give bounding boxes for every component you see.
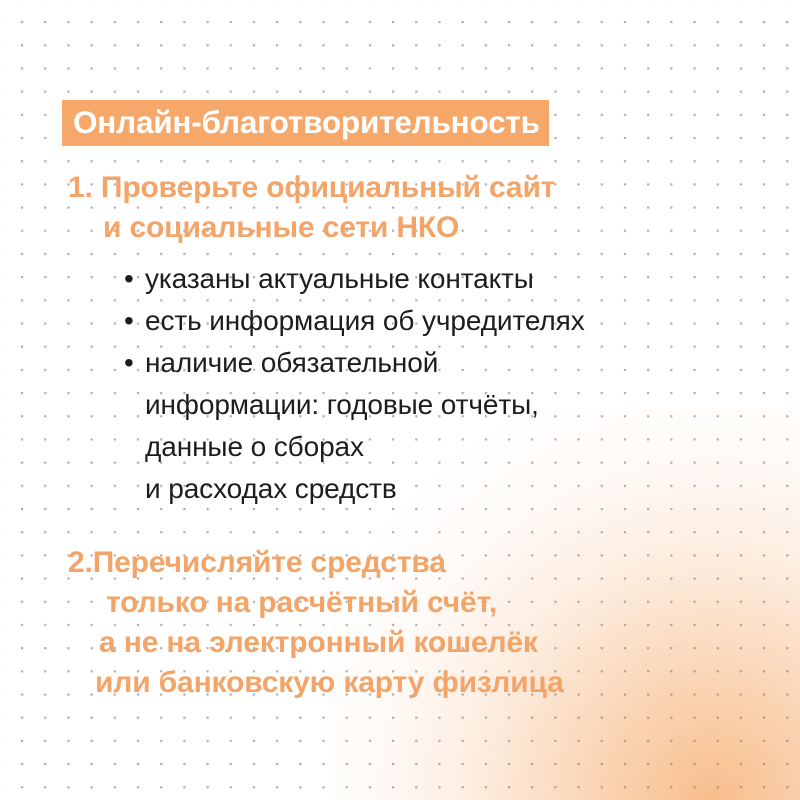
step-2-line-3: а не на электронный кошелёк bbox=[68, 623, 564, 663]
bullet-dot-icon: • bbox=[124, 258, 134, 300]
bullet-3-line-2: информации: годовые отчёты, bbox=[145, 384, 585, 426]
page-title-text: Онлайн-благотворительность bbox=[73, 107, 540, 139]
bullet-3-line-3: данные о сборах bbox=[145, 426, 585, 468]
list-item: • наличие обязательной информации: годов… bbox=[124, 342, 585, 510]
step-1-line-1: 1. Проверьте официальный сайт bbox=[68, 168, 555, 208]
step-1-heading: 1. Проверьте официальный сайт и социальн… bbox=[68, 168, 555, 248]
step-2-line-2: только на расчётный счёт, bbox=[68, 583, 564, 623]
page-title-badge: Онлайн-благотворительность bbox=[62, 100, 549, 146]
poster-canvas: Онлайн-благотворительность 1. Проверьте … bbox=[0, 0, 800, 800]
step-1-line-1-text: Проверьте официальный сайт bbox=[101, 171, 555, 204]
step-2-line-4: или банковскую карту физлица bbox=[68, 663, 564, 703]
bullet-3-line-4: и расходах средств bbox=[145, 468, 585, 510]
step-2-line-1: 2.Перечисляйте средства bbox=[68, 543, 564, 583]
bullet-dot-icon: • bbox=[124, 342, 134, 384]
poster-content: Онлайн-благотворительность 1. Проверьте … bbox=[0, 0, 800, 800]
step-2-heading: 2.Перечисляйте средства только на расчёт… bbox=[68, 543, 564, 703]
bullet-dot-icon: • bbox=[124, 300, 134, 342]
list-item: • есть информация об учредителях bbox=[124, 300, 585, 342]
step-1-number: 1. bbox=[68, 168, 93, 208]
step-2-line-1-text: Перечисляйте средства bbox=[93, 546, 446, 579]
step-1-line-2: и социальные сети НКО bbox=[68, 208, 555, 248]
step-1-bullet-list: • указаны актуальные контакты • есть инф… bbox=[124, 258, 585, 510]
list-item: • указаны актуальные контакты bbox=[124, 258, 585, 300]
step-2-number: 2. bbox=[68, 543, 93, 583]
bullet-1-line-1: указаны актуальные контакты bbox=[145, 258, 585, 300]
bullet-3-line-1: наличие обязательной bbox=[145, 342, 585, 384]
bullet-2-line-1: есть информация об учредителях bbox=[145, 300, 585, 342]
